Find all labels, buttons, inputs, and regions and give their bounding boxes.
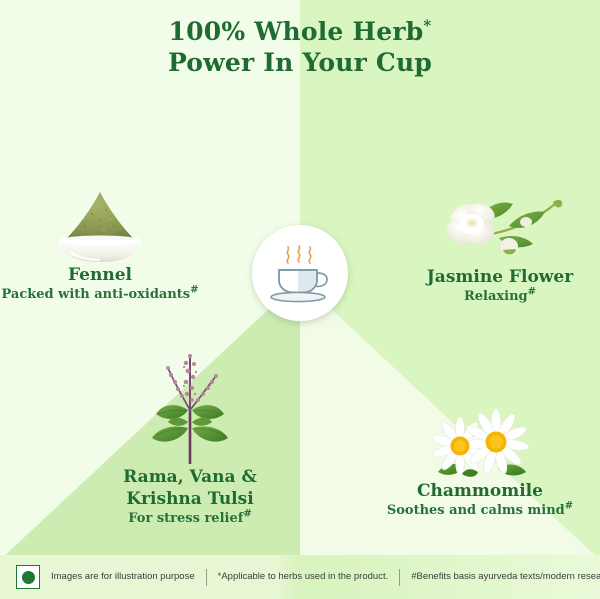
herb-desc-chammomile-text: Soothes and calms mind: [387, 503, 565, 518]
vegetarian-mark-icon: [16, 565, 40, 589]
herb-name-fennel: Fennel: [0, 264, 200, 286]
footer-disclaimer-bar: Images are for illustration purpose *App…: [0, 555, 600, 599]
herb-desc-tulsi-marker: #: [243, 509, 251, 520]
tea-cup-icon: [264, 242, 336, 304]
herb-desc-tulsi-text: For stress relief: [128, 511, 243, 526]
title-line-1: 100% Whole Herb*: [0, 16, 600, 47]
title-line-1-text: 100% Whole Herb: [169, 17, 424, 46]
title-line-2: Power In Your Cup: [0, 47, 600, 78]
chammomile-flowers-image: [370, 406, 590, 480]
herb-desc-chammomile-marker: #: [565, 501, 573, 512]
herb-desc-jasmine-marker: #: [528, 287, 536, 298]
vegetarian-dot: [22, 571, 35, 584]
herb-item-fennel: Fennel Packed with anti-oxidants#: [0, 186, 200, 304]
herb-desc-jasmine: Relaxing#: [400, 288, 600, 306]
tulsi-plant-image: [90, 336, 290, 466]
herb-name-tulsi-line-2: Krishna Tulsi: [90, 488, 290, 510]
herb-name-jasmine: Jasmine Flower: [400, 266, 600, 288]
center-cup-badge: [252, 225, 348, 321]
herb-infographic: 100% Whole Herb* Power In Your Cup: [0, 0, 600, 599]
herb-item-tulsi: Rama, Vana & Krishna Tulsi For stress re…: [90, 336, 290, 528]
footer-divider-2: [399, 569, 400, 586]
herb-item-chammomile: Chammomile Soothes and calms mind#: [370, 406, 590, 520]
herb-desc-fennel: Packed with anti-oxidants#: [0, 286, 200, 304]
herb-desc-chammomile: Soothes and calms mind#: [370, 502, 590, 520]
title-asterisk: *: [423, 17, 431, 35]
footer-divider-1: [206, 569, 207, 586]
jasmine-flower-image: [400, 186, 600, 266]
herb-name-chammomile: Chammomile: [370, 480, 590, 502]
fennel-powder-bowl-image: [0, 186, 200, 264]
herb-desc-fennel-text: Packed with anti-oxidants: [1, 287, 190, 302]
footer-note-3: #Benefits basis ayurveda texts/modern re…: [411, 571, 600, 583]
herb-desc-tulsi: For stress relief#: [90, 510, 290, 528]
herb-name-tulsi-line-1: Rama, Vana &: [90, 466, 290, 488]
herb-desc-jasmine-text: Relaxing: [464, 289, 528, 304]
herb-item-jasmine: Jasmine Flower Relaxing#: [400, 186, 600, 306]
page-title: 100% Whole Herb* Power In Your Cup: [0, 16, 600, 78]
footer-note-1: Images are for illustration purpose: [51, 571, 195, 583]
footer-note-2: *Applicable to herbs used in the product…: [218, 571, 389, 583]
herb-desc-fennel-marker: #: [190, 285, 198, 296]
